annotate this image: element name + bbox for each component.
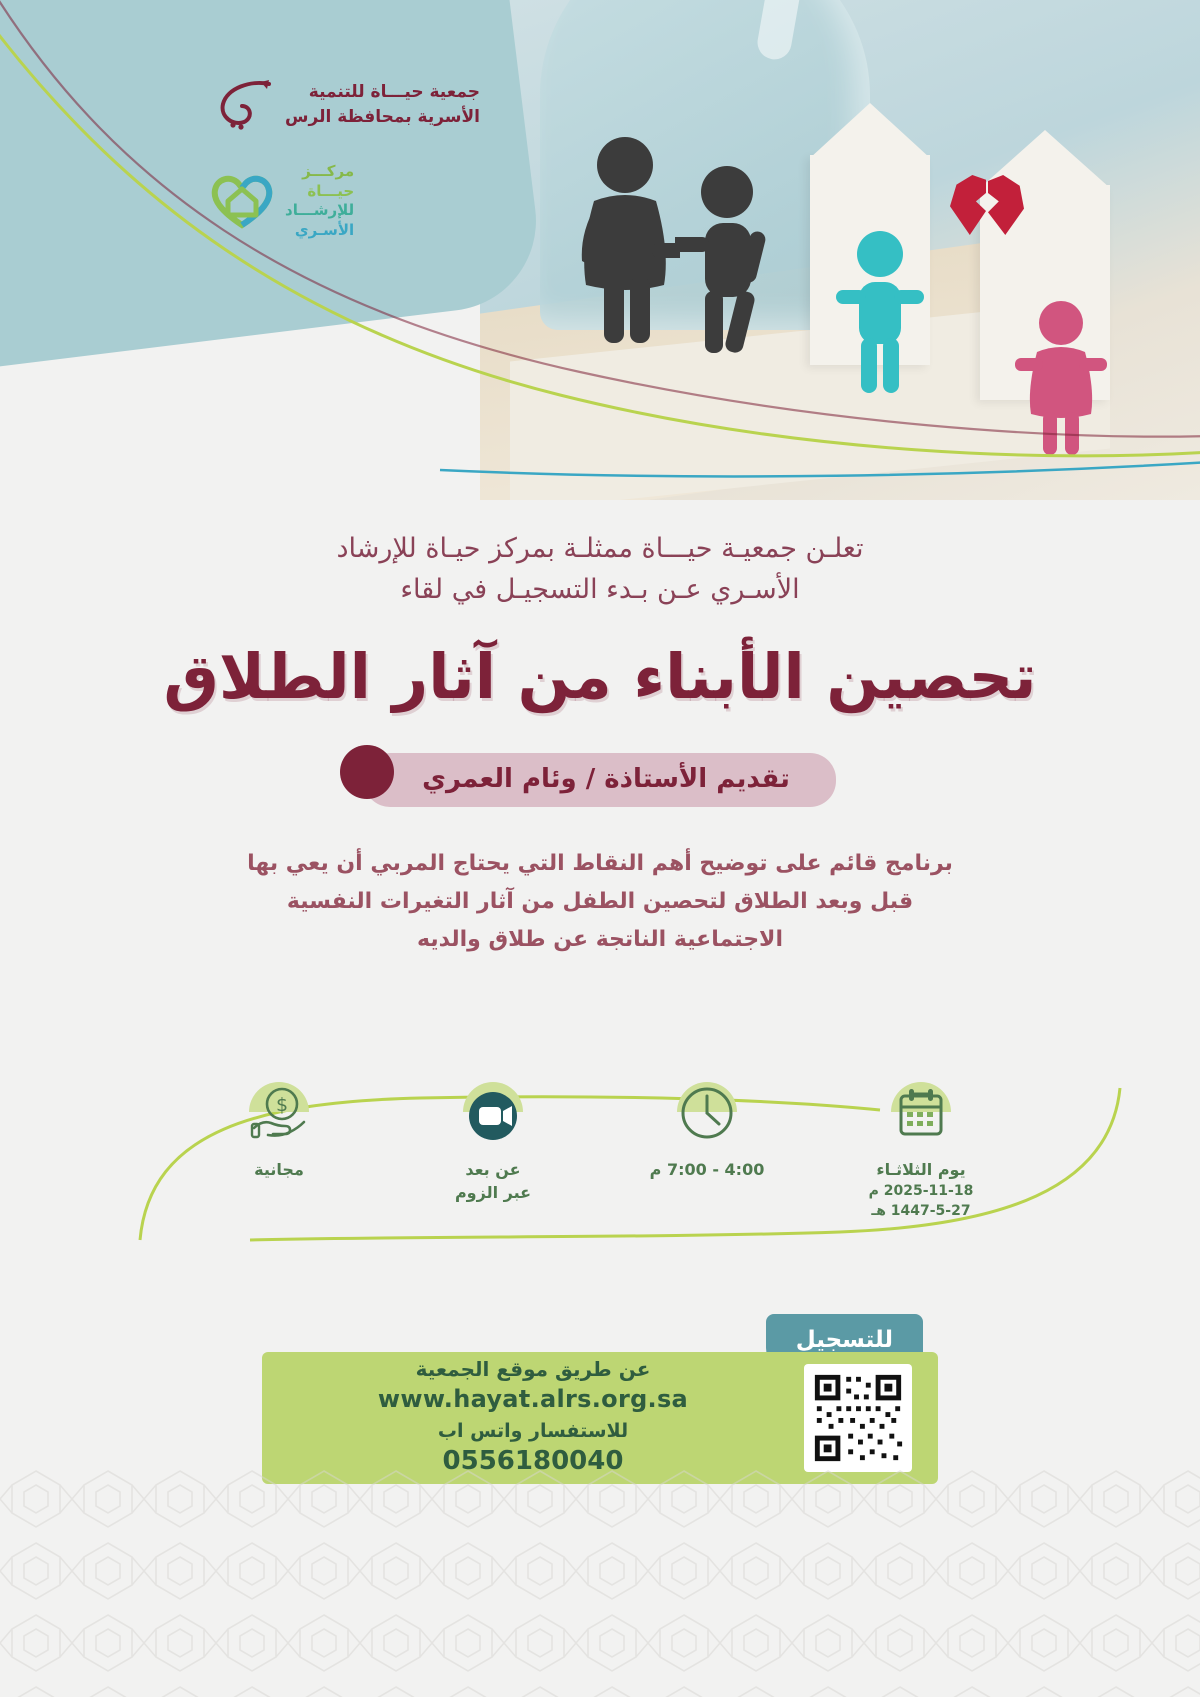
speaker-badge: تقديم الأستاذة / وئام العمري: [364, 753, 836, 807]
website-url[interactable]: www.hayat.alrs.org.sa: [280, 1383, 786, 1415]
description-line-2: قبل وبعد الطلاق لتحصين الطفل من آثار الت…: [0, 883, 1200, 921]
footer-contact-text: عن طريق موقع الجمعية www.hayat.alrs.org.…: [280, 1356, 786, 1479]
page-title: تحصين الأبناء من آثار الطلاق: [0, 640, 1200, 713]
intro-line-2: الأسـري عـن بـدء التسجيـل في لقاء: [0, 569, 1200, 610]
footer-geometric-pattern: [0, 1467, 1200, 1697]
speaker-name: تقديم الأستاذة / وئام العمري: [422, 764, 790, 794]
price-free: مجانية: [209, 1158, 349, 1181]
clock-icon: [674, 1080, 740, 1146]
info-item-date: يوم الثلاثـاء 2025-11-18 م 1447-5-27 هـ: [851, 1080, 991, 1222]
svg-text:$: $: [276, 1094, 288, 1116]
calendar-icon: [888, 1080, 954, 1146]
speaker-row: تقديم الأستاذة / وئام العمري: [0, 753, 1200, 807]
logo-block: جمعية حيـــاة للتنمية الأسرية بمحافظة ال…: [211, 78, 480, 240]
registration-footer-bar: عن طريق موقع الجمعية www.hayat.alrs.org.…: [262, 1352, 938, 1484]
header-swoosh-lines: [0, 0, 1200, 520]
description-line-1: برنامج قائم على توضيح أهم النقاط التي يح…: [0, 845, 1200, 883]
heart-house-icon: [211, 173, 273, 229]
speaker-dot-icon: [340, 745, 394, 799]
intro-line-1: تعلـن جمعيـة حيـــاة ممثلـة بمركز حيـاة …: [0, 528, 1200, 569]
center-name-line2: حيـــاة: [285, 182, 354, 202]
description-line-3: الاجتماعية الناتجة عن طلاق والديه: [0, 921, 1200, 959]
info-item-time: 4:00 - 7:00 م: [637, 1080, 777, 1181]
event-info-strip: يوم الثلاثـاء 2025-11-18 م 1447-5-27 هـ …: [0, 1040, 1200, 1270]
center-logo: مركـــز حيـــاة للإرشـــاد الأسـري: [211, 162, 452, 240]
free-money-hand-icon: $: [246, 1080, 312, 1146]
platform-remote: عن بعد: [423, 1158, 563, 1181]
info-item-price: $ مجانية: [209, 1080, 349, 1181]
association-logo: جمعية حيـــاة للتنمية الأسرية بمحافظة ال…: [211, 78, 480, 132]
info-items-row: يوم الثلاثـاء 2025-11-18 م 1447-5-27 هـ …: [0, 1080, 1200, 1222]
date-gregorian: 2025-11-18 م: [851, 1181, 991, 1201]
association-name-line2: الأسرية بمحافظة الرس: [285, 105, 480, 130]
date-hijri: 1447-5-27 هـ: [851, 1201, 991, 1221]
center-name-line1: مركـــز: [285, 162, 354, 182]
center-name-line3: للإرشـــاد: [285, 201, 354, 221]
qr-code-icon[interactable]: [804, 1364, 912, 1472]
info-item-platform: عن بعد عبر الزوم: [423, 1080, 563, 1204]
description-text: برنامج قائم على توضيح أهم النقاط التي يح…: [0, 845, 1200, 958]
time-range: 4:00 - 7:00 م: [637, 1158, 777, 1181]
hayat-wordmark-icon: [211, 78, 275, 132]
center-name-line4: الأسـري: [285, 221, 354, 241]
registration-via-site: عن طريق موقع الجمعية: [280, 1356, 786, 1383]
date-weekday: يوم الثلاثـاء: [851, 1158, 991, 1181]
header-artwork: جمعية حيـــاة للتنمية الأسرية بمحافظة ال…: [0, 0, 1200, 520]
poster-root: جمعية حيـــاة للتنمية الأسرية بمحافظة ال…: [0, 0, 1200, 1697]
whatsapp-label: للاستفسار واتس اب: [280, 1419, 786, 1445]
platform-zoom: عبر الزوم: [423, 1181, 563, 1204]
intro-text: تعلـن جمعيـة حيـــاة ممثلـة بمركز حيـاة …: [0, 528, 1200, 610]
video-camera-icon: [460, 1080, 526, 1146]
association-name-line1: جمعية حيـــاة للتنمية: [285, 80, 480, 105]
